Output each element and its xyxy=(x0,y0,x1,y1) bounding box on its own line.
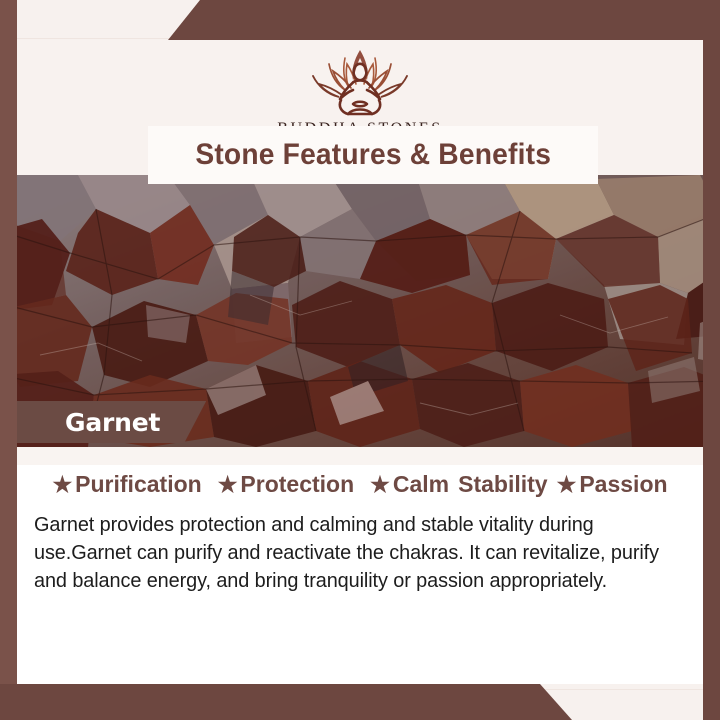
star-icon: ★ xyxy=(218,474,238,496)
feature-list: ★ Purification ★ Protection ★ Calm Stabi… xyxy=(17,471,703,498)
feature-item-purification: ★ Purification xyxy=(52,471,201,498)
page-title: Stone Features & Benefits xyxy=(195,138,551,172)
feature-label: Stability xyxy=(458,471,547,498)
panel-top-tint xyxy=(17,447,703,465)
frame-left-band xyxy=(0,0,17,720)
feature-item-protection: ★ Protection xyxy=(218,471,354,498)
stone-name-badge: Garnet xyxy=(17,401,206,443)
content-panel: ★ Purification ★ Protection ★ Calm Stabi… xyxy=(17,447,703,684)
feature-label: Calm xyxy=(393,471,449,498)
feature-label: Passion xyxy=(579,471,667,498)
frame-bottom-band xyxy=(0,684,720,720)
section-title-plate: Stone Features & Benefits xyxy=(148,126,598,184)
brand-logo-group: BUDDHA STONES xyxy=(17,44,703,138)
feature-item-passion: ★ Passion xyxy=(557,471,668,498)
star-icon: ★ xyxy=(52,474,72,496)
feature-item-stability: Stability xyxy=(458,471,547,498)
lotus-meditation-icon xyxy=(285,44,435,118)
feature-item-calm: ★ Calm xyxy=(370,471,449,498)
stone-features-infographic: BUDDHA STONES Stone Features & Benefits xyxy=(0,0,720,720)
frame-top-band xyxy=(0,0,720,40)
star-icon: ★ xyxy=(557,474,577,496)
feature-label: Purification xyxy=(75,471,202,498)
frame-right-band xyxy=(703,0,720,720)
feature-label: Protection xyxy=(240,471,354,498)
stone-name: Garnet xyxy=(65,408,160,437)
star-icon: ★ xyxy=(370,474,390,496)
stone-description: Garnet provides protection and calming a… xyxy=(34,511,668,595)
